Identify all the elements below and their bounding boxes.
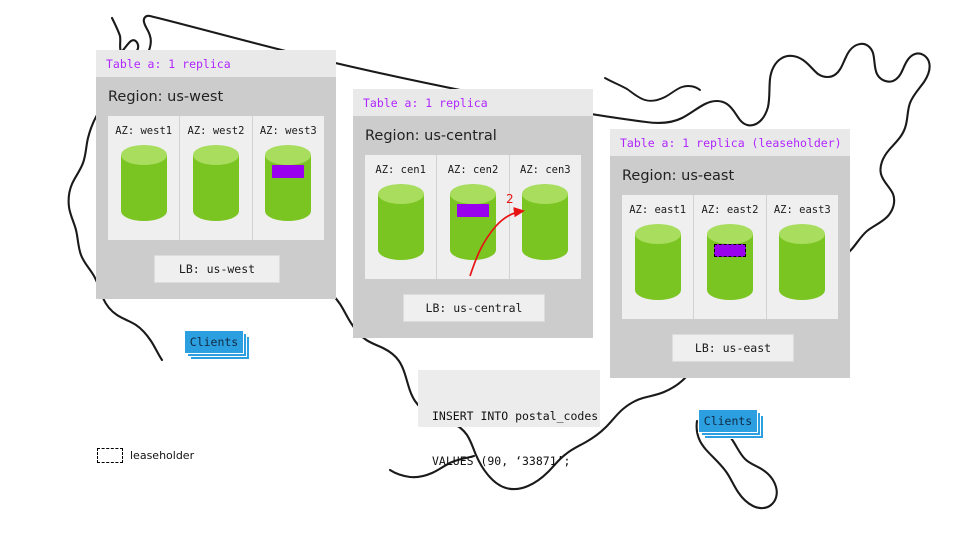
replica-marker-cen2	[457, 204, 489, 217]
az-label-east1: AZ: east1	[622, 204, 693, 216]
az-cell-cen2[interactable]: AZ: cen2	[437, 155, 509, 279]
cylinder-icon	[777, 222, 827, 302]
node-cylinder-east1[interactable]	[633, 222, 683, 302]
load-balancer-us-west[interactable]: LB: us-west	[154, 255, 280, 283]
cylinder-icon	[448, 182, 498, 262]
node-cylinder-cen3[interactable]	[520, 182, 570, 262]
az-cell-cen3[interactable]: AZ: cen3	[510, 155, 581, 279]
az-label-east2: AZ: east2	[694, 204, 765, 216]
region-panel-us-west: Table a: 1 replica Region: us-west AZ: w…	[96, 50, 336, 299]
region-title-us-central: Region: us-central	[353, 116, 593, 155]
node-cylinder-west1[interactable]	[119, 143, 169, 223]
sql-statement-box: INSERT INTO postal_codes VALUES (90, ‘33…	[418, 370, 600, 427]
panel-header-us-east: Table a: 1 replica (leaseholder)	[610, 129, 850, 156]
node-cylinder-west3[interactable]	[263, 143, 313, 223]
region-panel-us-central: Table a: 1 replica Region: us-central AZ…	[353, 89, 593, 338]
az-label-cen2: AZ: cen2	[437, 164, 508, 176]
az-label-west2: AZ: west2	[180, 125, 251, 137]
az-label-west1: AZ: west1	[108, 125, 179, 137]
az-label-east3: AZ: east3	[767, 204, 838, 216]
legend: leaseholder	[97, 448, 194, 463]
panel-header-us-central: Table a: 1 replica	[353, 89, 593, 116]
cylinder-icon	[119, 143, 169, 223]
replica-marker-west3	[272, 165, 304, 178]
az-row-us-central: AZ: cen1 AZ: cen2	[365, 155, 581, 279]
az-cell-west1[interactable]: AZ: west1	[108, 116, 180, 240]
cylinder-icon	[705, 222, 755, 302]
arrow-label-2: 2	[506, 192, 514, 206]
panel-body-us-central: Region: us-central AZ: cen1 AZ: cen2	[353, 116, 593, 338]
cylinder-icon	[263, 143, 313, 223]
node-cylinder-west2[interactable]	[191, 143, 241, 223]
diagram-canvas: Table a: 1 replica Region: us-west AZ: w…	[0, 0, 960, 540]
panel-body-us-west: Region: us-west AZ: west1 AZ: west2	[96, 77, 336, 299]
cylinder-icon	[633, 222, 683, 302]
clients-stack-us-west[interactable]: Clients	[184, 330, 250, 360]
cylinder-icon	[191, 143, 241, 223]
az-row-us-west: AZ: west1 AZ: west2	[108, 116, 324, 240]
sql-line-2: VALUES (90, ‘33871’;	[432, 454, 588, 469]
clients-button-us-west[interactable]: Clients	[184, 330, 244, 354]
region-title-us-west: Region: us-west	[96, 77, 336, 116]
us-map-great-lakes	[605, 78, 700, 101]
az-label-cen1: AZ: cen1	[365, 164, 436, 176]
node-cylinder-east3[interactable]	[777, 222, 827, 302]
az-cell-east3[interactable]: AZ: east3	[767, 195, 838, 319]
cylinder-icon	[376, 182, 426, 262]
panel-body-us-east: Region: us-east AZ: east1 AZ: east2	[610, 156, 850, 378]
az-cell-cen1[interactable]: AZ: cen1	[365, 155, 437, 279]
sql-line-1: INSERT INTO postal_codes	[432, 409, 588, 424]
node-cylinder-cen1[interactable]	[376, 182, 426, 262]
node-cylinder-cen2[interactable]	[448, 182, 498, 262]
node-cylinder-east2[interactable]	[705, 222, 755, 302]
az-cell-east1[interactable]: AZ: east1	[622, 195, 694, 319]
az-cell-west3[interactable]: AZ: west3	[253, 116, 324, 240]
leaseholder-marker-east2	[714, 244, 746, 257]
cylinder-icon	[520, 182, 570, 262]
az-cell-west2[interactable]: AZ: west2	[180, 116, 252, 240]
az-cell-east2[interactable]: AZ: east2	[694, 195, 766, 319]
dashed-rect-icon	[97, 448, 123, 463]
az-label-west3: AZ: west3	[253, 125, 324, 137]
load-balancer-us-central[interactable]: LB: us-central	[403, 294, 545, 322]
panel-header-us-west: Table a: 1 replica	[96, 50, 336, 77]
clients-stack-us-east[interactable]: Clients	[698, 409, 764, 439]
region-title-us-east: Region: us-east	[610, 156, 850, 195]
az-label-cen3: AZ: cen3	[510, 164, 581, 176]
az-row-us-east: AZ: east1 AZ: east2	[622, 195, 838, 319]
legend-label: leaseholder	[130, 449, 194, 462]
load-balancer-us-east[interactable]: LB: us-east	[672, 334, 794, 362]
region-panel-us-east: Table a: 1 replica (leaseholder) Region:…	[610, 129, 850, 378]
clients-button-us-east[interactable]: Clients	[698, 409, 758, 433]
